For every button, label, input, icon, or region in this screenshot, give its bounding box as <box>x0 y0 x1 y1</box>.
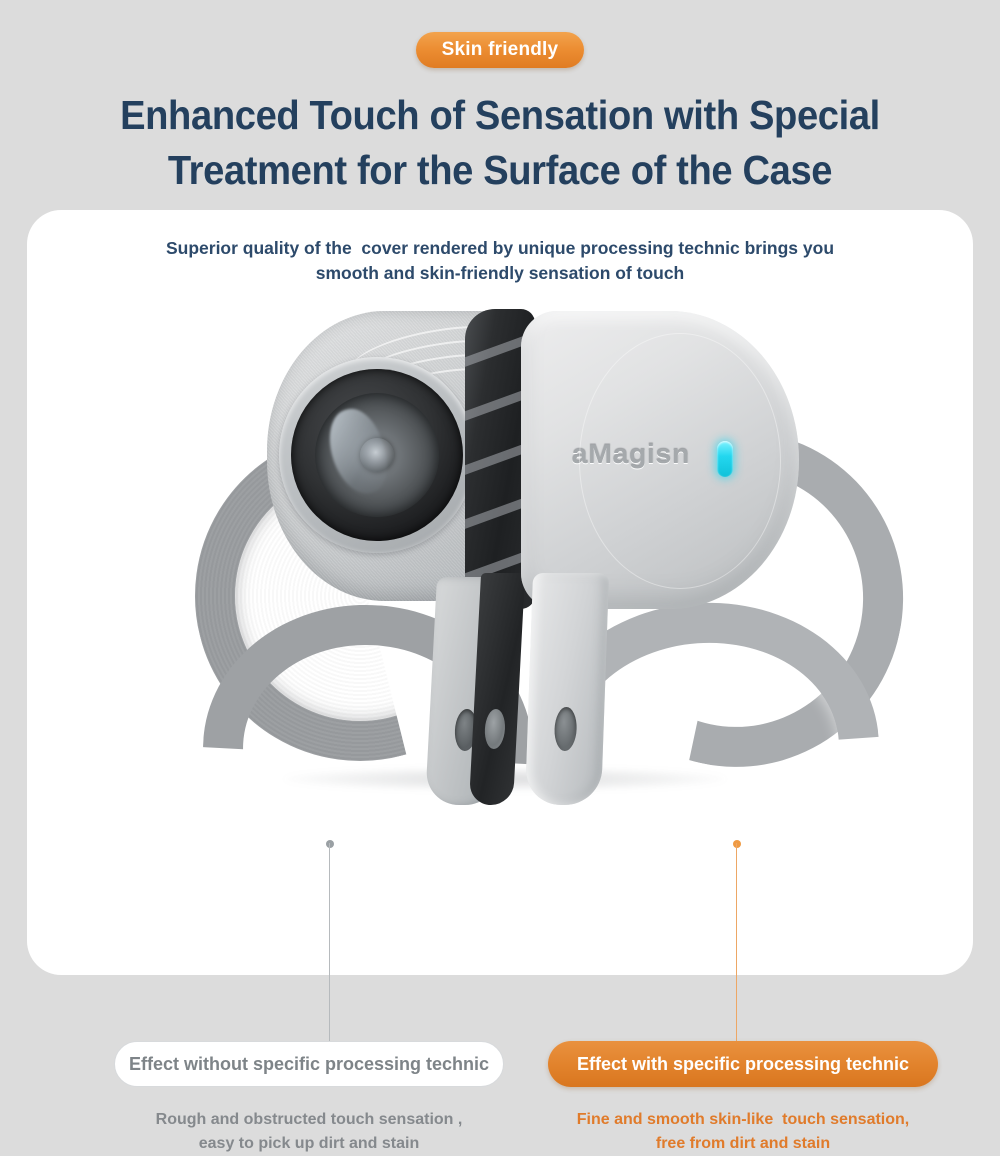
callout-pill-with-technic: Effect with specific processing technic <box>548 1041 938 1087</box>
connector-line-right <box>736 843 737 1043</box>
subtitle-line-1: Superior quality of the cover rendered b… <box>97 236 903 261</box>
callout-caption-right-line-2: free from dirt and stain <box>543 1132 943 1156</box>
callout-caption-right: Fine and smooth skin-like touch sensatio… <box>543 1108 943 1156</box>
lens-glass <box>315 393 439 517</box>
product-half-untreated <box>175 305 535 795</box>
callout-caption-right-line-1: Fine and smooth skin-like touch sensatio… <box>543 1108 943 1132</box>
lens-bezel-ring <box>291 369 463 541</box>
subtitle-line-2: smooth and skin-friendly sensation of to… <box>97 261 903 286</box>
subtitle: Superior quality of the cover rendered b… <box>97 236 903 287</box>
mount-leg-right <box>525 573 609 805</box>
callout-caption-left-line-2: easy to pick up dirt and stain <box>109 1132 509 1156</box>
callout-caption-left: Rough and obstructed touch sensation , e… <box>109 1108 509 1156</box>
callout-pill-without-technic: Effect without specific processing techn… <box>114 1041 504 1087</box>
product-image-stage: aMagisn <box>27 305 973 795</box>
brand-logo-text: aMagisn <box>572 439 690 470</box>
callout-caption-left-line-1: Rough and obstructed touch sensation , <box>109 1108 509 1132</box>
badge-container: Skin friendly <box>0 32 1000 68</box>
case-body-right: aMagisn <box>521 311 799 609</box>
product-camera-case: aMagisn <box>175 305 835 795</box>
connector-line-left <box>329 843 330 1043</box>
page-title-line-1: Enhanced Touch of Sensation with Special <box>82 88 919 143</box>
page-title-line-2: Treatment for the Surface of the Case <box>82 143 919 198</box>
camera-lens-assembly <box>279 357 475 553</box>
skin-friendly-badge: Skin friendly <box>416 32 585 68</box>
page-title: Enhanced Touch of Sensation with Special… <box>82 88 919 197</box>
lens-aperture-icon <box>360 438 394 472</box>
led-indicator-icon <box>717 441 733 477</box>
content-card: Superior quality of the cover rendered b… <box>27 210 973 975</box>
product-half-treated: aMagisn <box>505 305 835 795</box>
